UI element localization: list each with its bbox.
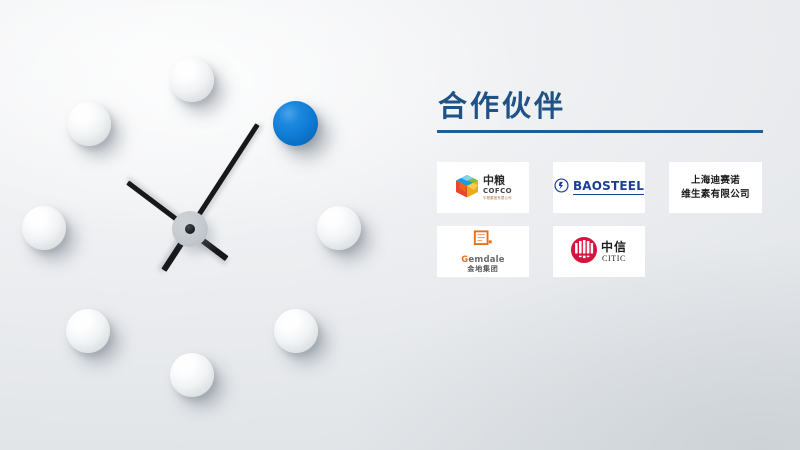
clock-marker-5 xyxy=(170,353,214,397)
partner-card-placeholder xyxy=(669,226,762,277)
cofco-cube-icon xyxy=(454,173,480,203)
gemdale-mark-icon xyxy=(473,230,493,254)
gemdale-wordmark: Gemdale xyxy=(461,256,505,265)
gemdale-wordmark-rest: emdale xyxy=(468,255,504,265)
cofco-tagline: 中粮集团有限公司 xyxy=(483,197,512,200)
partner-card-cofco[interactable]: 中粮 COFCO 中粮集团有限公司 xyxy=(437,162,529,213)
clock-marker-12 xyxy=(170,58,214,102)
baosteel-emblem-icon xyxy=(554,178,569,197)
clock-marker-7 xyxy=(66,309,110,353)
clock-marker-1-active xyxy=(273,101,318,146)
citic-emblem-icon xyxy=(571,237,597,267)
slide-canvas: 合作伙伴 xyxy=(0,0,800,450)
partner-card-disaino[interactable]: 上海迪赛诺 维生素有限公司 xyxy=(669,162,762,213)
partner-card-citic[interactable]: 中信 CITIC xyxy=(553,226,645,277)
partner-card-baosteel[interactable]: BAOSTEEL xyxy=(553,162,645,213)
gemdale-name-cn: 金地集团 xyxy=(467,266,498,273)
clock-marker-8 xyxy=(22,206,66,250)
clock-marker-10 xyxy=(67,102,111,146)
wall-clock xyxy=(0,0,400,450)
citic-name-cn: 中信 xyxy=(601,241,627,253)
title-underline-rule xyxy=(437,130,763,133)
clock-hub-cap xyxy=(185,224,195,234)
partner-card-gemdale[interactable]: Gemdale 金地集团 xyxy=(437,226,529,277)
partner-logo-grid: 中粮 COFCO 中粮集团有限公司 BAOSTEEL xyxy=(437,162,767,277)
clock-marker-4 xyxy=(274,309,318,353)
disaino-line-1: 上海迪赛诺 xyxy=(681,174,750,188)
citic-name-en: CITIC xyxy=(602,255,626,263)
clock-marker-2 xyxy=(317,206,361,250)
cofco-name-cn: 中粮 xyxy=(483,175,505,186)
disaino-line-2: 维生素有限公司 xyxy=(681,188,750,202)
partners-panel: 合作伙伴 xyxy=(437,92,767,277)
baosteel-wordmark: BAOSTEEL xyxy=(573,180,644,195)
cofco-name-en: COFCO xyxy=(483,188,512,195)
page-title: 合作伙伴 xyxy=(437,92,767,121)
